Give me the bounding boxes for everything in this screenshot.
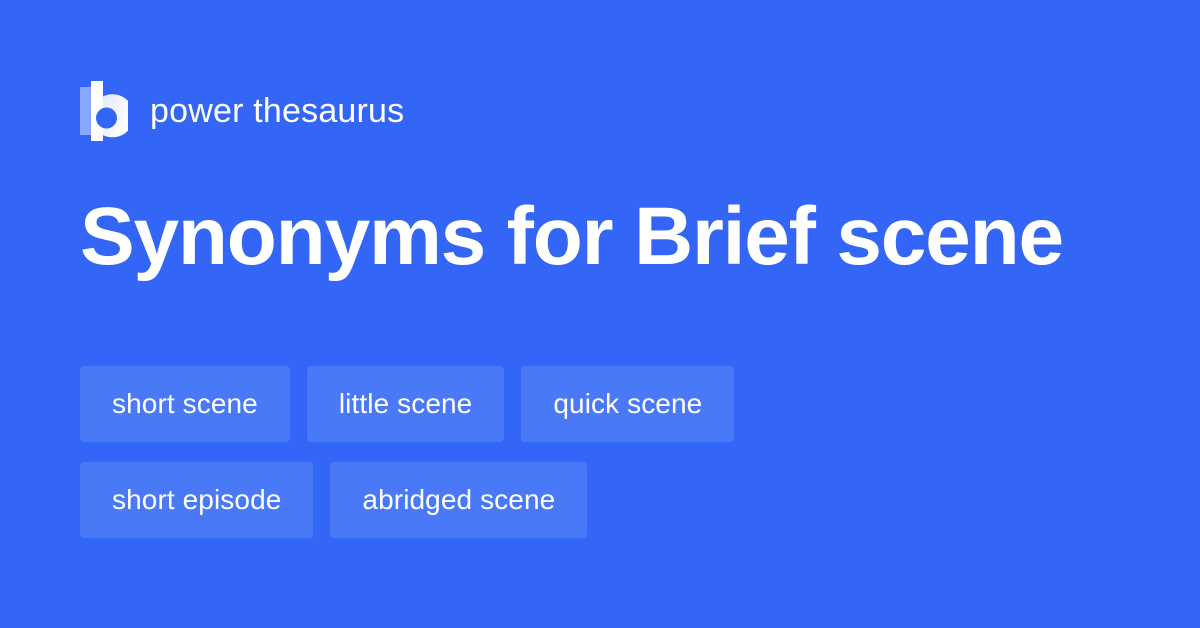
synonym-tag[interactable]: little scene — [307, 366, 505, 442]
synonym-list: short scene little scene quick scene sho… — [80, 366, 1140, 538]
page-title: Synonyms for Brief scene — [80, 196, 1140, 278]
share-card: Power thesaurus Synonyms for Brief scene… — [0, 0, 1200, 628]
synonym-tag[interactable]: short episode — [80, 462, 313, 538]
power-thesaurus-b-logo-icon — [80, 81, 128, 141]
synonym-row: short scene little scene quick scene — [80, 366, 1140, 442]
brand-name: Power thesaurus — [150, 94, 404, 128]
synonym-tag[interactable]: short scene — [80, 366, 290, 442]
synonym-tag[interactable]: abridged scene — [330, 462, 587, 538]
synonym-row: short episode abridged scene — [80, 462, 1140, 538]
brand-header[interactable]: Power thesaurus — [80, 80, 404, 142]
synonym-tag[interactable]: quick scene — [521, 366, 734, 442]
